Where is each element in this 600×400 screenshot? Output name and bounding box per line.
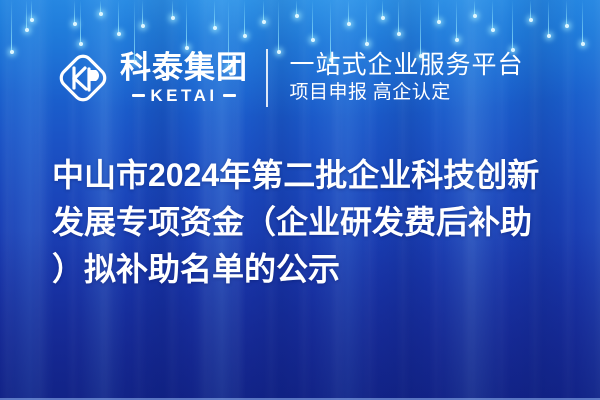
ketai-logo[interactable]: 科泰集团 KETAI (55, 50, 248, 106)
meteor-streak-icon (296, 0, 297, 16)
meteor-streak-icon (530, 0, 531, 20)
tagline-secondary: 项目申报 高企认定 (290, 82, 524, 105)
brand-name-en: KETAI (150, 87, 217, 104)
meteor-streak-icon (31, 0, 32, 20)
meteor-streak-icon (566, 0, 567, 26)
meteor-streak-icon (118, 0, 119, 34)
meteor-streak-icon (214, 0, 215, 28)
meteor-streak-icon (186, 0, 187, 48)
meteor-streak-icon (492, 0, 493, 30)
meteor-streak-icon (474, 0, 475, 16)
meteor-streak-icon (348, 0, 349, 24)
meteor-streak-icon (456, 0, 457, 40)
meteor-streak-icon (172, 0, 173, 18)
page-title-line: ）拟补助名单的公示 (52, 246, 582, 293)
meteor-streak-icon (366, 0, 367, 44)
page-title-line: 中山市2024年第二批企业科技创新 (52, 152, 582, 199)
brand-name-en-row: KETAI (120, 87, 248, 104)
meteor-streak-icon (263, 0, 264, 22)
ketai-logo-wordmark: 科泰集团 KETAI (120, 52, 248, 104)
meteor-streak-icon (142, 0, 143, 26)
meteor-streak-icon (312, 0, 313, 40)
dash-right-icon (223, 94, 236, 97)
tagline-block: 一站式企业服务平台 项目申报 高企认定 (290, 51, 524, 105)
meteor-streak-icon (398, 0, 399, 34)
page-title: 中山市2024年第二批企业科技创新 发展专项资金（企业研发费后补助 ）拟补助名单… (52, 152, 582, 293)
brand-name-cn: 科泰集团 (120, 52, 248, 84)
meteor-streak-icon (26, 0, 27, 30)
header-divider (266, 49, 268, 107)
meteor-streak-icon (582, 0, 583, 44)
promo-banner-image: 科泰集团 KETAI 一站式企业服务平台 项目申报 高企认定 中山市2024年第… (0, 0, 600, 400)
page-title-line: 发展专项资金（企业研发费后补助 (52, 199, 582, 246)
meteor-streak-icon (548, 0, 549, 36)
brand-header: 科泰集团 KETAI 一站式企业服务平台 项目申报 高企认定 (0, 43, 600, 113)
ketai-kp-monogram-icon (55, 50, 111, 106)
meteor-streak-icon (382, 0, 383, 18)
meteor-streak-icon (100, 0, 101, 14)
dash-left-icon (132, 94, 145, 97)
meteor-streak-icon (74, 0, 75, 24)
tagline-primary: 一站式企业服务平台 (290, 51, 524, 79)
meteor-streak-icon (80, 0, 81, 44)
meteor-streak-icon (438, 0, 439, 22)
meteor-streak-icon (244, 0, 245, 36)
